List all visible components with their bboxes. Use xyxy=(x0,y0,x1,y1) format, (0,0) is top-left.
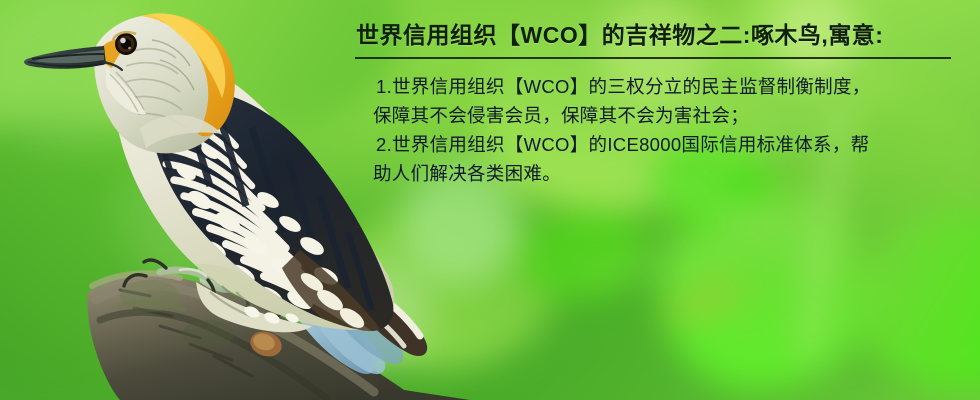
list-item-2-line-1: 2.世界信用组织【WCO】的ICE8000国际信用标准体系，帮 xyxy=(364,130,972,159)
banner-title: 世界信用组织【WCO】的吉祥物之二:啄木鸟,寓意: xyxy=(348,22,972,48)
leaf-shape xyxy=(520,210,650,300)
wco-mascot-banner: 世界信用组织【WCO】的吉祥物之二:啄木鸟,寓意: 1.世界信用组织【WCO】的… xyxy=(0,0,980,400)
title-underline xyxy=(355,57,951,59)
list-item-2-line-2: 助人们解决各类困难。 xyxy=(364,159,972,188)
text-panel: 世界信用组织【WCO】的吉祥物之二:啄木鸟,寓意: 1.世界信用组织【WCO】的… xyxy=(348,22,972,188)
mascot-meaning-list: 1.世界信用组织【WCO】的三权分立的民主监督制衡制度， 保障其不会侵害会员，保… xyxy=(348,72,972,188)
list-item-1-line-1: 1.世界信用组织【WCO】的三权分立的民主监督制衡制度， xyxy=(364,72,972,101)
list-item-1-line-2: 保障其不会侵害会员，保障其不会为害社会； xyxy=(364,101,972,130)
